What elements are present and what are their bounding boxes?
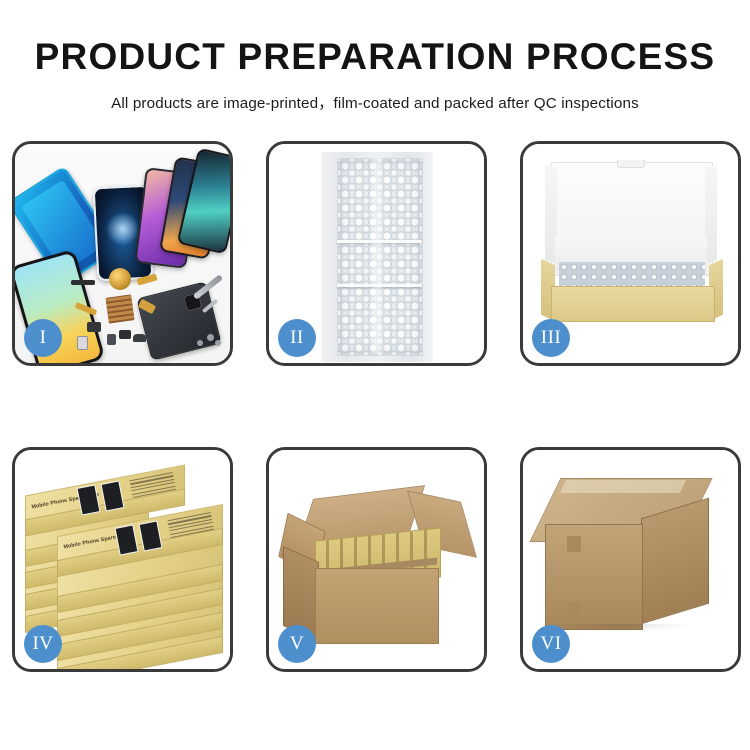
step-badge-6: VI	[532, 625, 570, 663]
step-badge-5: V	[278, 625, 316, 663]
spare-part-icon	[133, 334, 146, 342]
bubble-wrap-highlight	[369, 158, 385, 354]
process-step-panel-2: II	[266, 141, 487, 366]
step-badge-2: II	[278, 319, 316, 357]
spare-part-icon	[71, 280, 95, 285]
process-step-panel-6: VI	[520, 447, 741, 672]
sealed-carton-front-face	[545, 524, 643, 630]
step-badge-4: IV	[24, 625, 62, 663]
screw-icon	[197, 340, 203, 346]
spare-part-icon	[107, 334, 116, 345]
spare-part-icon	[87, 322, 101, 332]
bubble-wrapped-items-icon	[559, 262, 705, 288]
chip-grid-icon	[105, 294, 134, 323]
carton-handle-cutout	[567, 536, 581, 552]
screw-icon	[207, 334, 214, 341]
spare-part-icon	[119, 330, 131, 339]
carton-handle-cutout	[567, 602, 581, 616]
speaker-coil-icon	[109, 268, 131, 290]
carton-front-face	[315, 568, 439, 644]
mailer-box-front-panel	[551, 286, 715, 322]
product-preparation-process-page: PRODUCT PREPARATION PROCESS All products…	[0, 0, 750, 750]
carton-shadow	[545, 624, 695, 632]
spare-part-icon	[77, 336, 88, 350]
phone-back-housing-icon	[136, 281, 221, 361]
screw-icon	[215, 340, 221, 346]
process-step-panel-5: V	[266, 447, 487, 672]
process-step-panel-1: I	[12, 141, 233, 366]
process-step-grid: I II	[0, 0, 750, 750]
sealed-carton-right-face	[641, 498, 709, 625]
mailer-box-lid-tab	[617, 160, 645, 168]
step-badge-1: I	[24, 319, 62, 357]
process-step-panel-4: Mobile Phone Spare Parts Mobile Phone Sp…	[12, 447, 233, 672]
packing-tape-icon	[560, 480, 686, 493]
step-badge-3: III	[532, 319, 570, 357]
process-step-panel-3: III	[520, 141, 741, 366]
